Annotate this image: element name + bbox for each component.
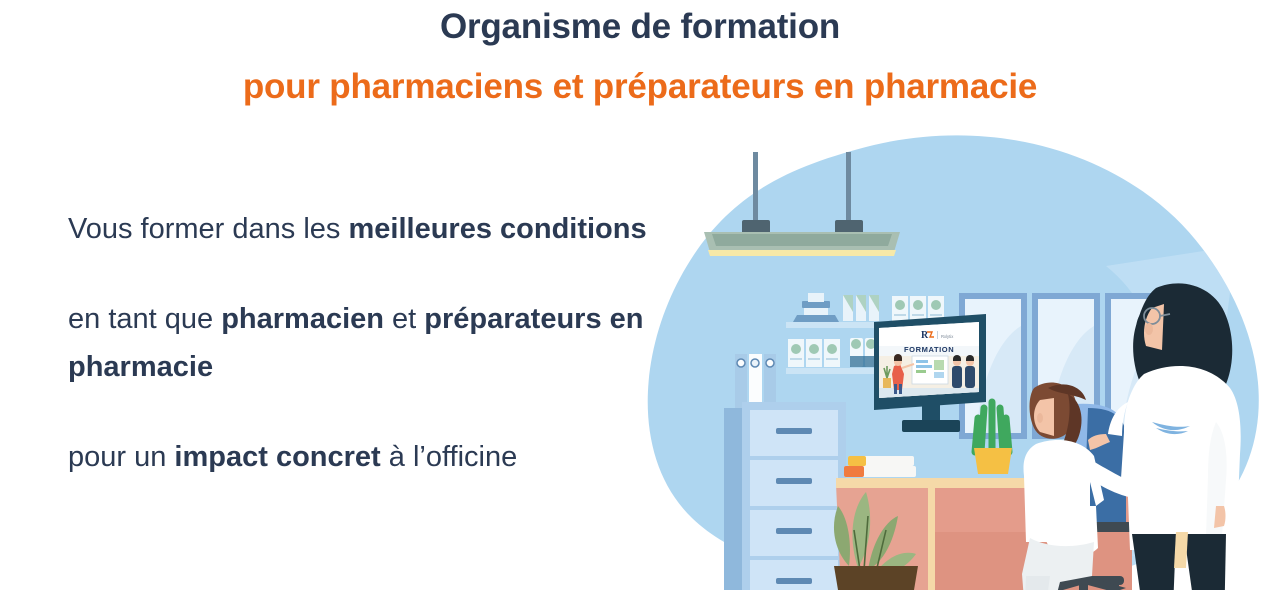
cabinet-drawer <box>750 460 838 506</box>
page-heading-block: Organisme de formation pour pharmaciens … <box>0 0 1280 110</box>
copy-paragraph-3: pour un impact concret à l’officine <box>68 433 648 481</box>
screen-logo-text: Rxlytix <box>941 334 954 339</box>
screen-headline: FORMATION <box>904 345 954 354</box>
monitor-screen-content: R Rxlytix FORMATION <box>879 322 979 398</box>
shelf-item-tubes <box>843 295 879 321</box>
cabinet-drawer <box>750 410 838 456</box>
pharmacy-scene-svg: R Rxlytix FORMATION <box>636 126 1280 590</box>
cabinet-drawer <box>750 560 838 590</box>
copy-p2-bold-1: pharmacien <box>221 303 384 335</box>
copy-paragraph-2: en tant que pharmacien et préparateurs e… <box>68 295 648 391</box>
copy-p3-plain-end: à l’officine <box>381 441 518 473</box>
copy-p2-plain-start: en tant que <box>68 303 221 335</box>
page-root: Organisme de formation pour pharmaciens … <box>0 0 1280 590</box>
shelf-item-boxes-lower <box>788 339 840 367</box>
filing-cabinet <box>724 402 846 590</box>
intro-copy: Vous former dans les meilleures conditio… <box>68 205 648 481</box>
copy-p1-bold: meilleures conditions <box>348 213 646 245</box>
book-stack <box>844 456 916 477</box>
page-title-primary: Organisme de formation <box>0 4 1280 50</box>
pharmacy-scene-illustration: R Rxlytix FORMATION <box>636 126 1280 590</box>
copy-p2-middle: et <box>384 303 424 335</box>
binders <box>735 354 776 408</box>
copy-p3-plain-start: pour un <box>68 441 174 473</box>
cabinet-drawer <box>750 510 838 556</box>
copy-p3-bold: impact concret <box>174 441 380 473</box>
page-title-secondary: pour pharmaciens et préparateurs en phar… <box>0 64 1280 110</box>
copy-p1-plain-start: Vous former dans les <box>68 213 348 245</box>
copy-paragraph-1: Vous former dans les meilleures conditio… <box>68 205 648 253</box>
